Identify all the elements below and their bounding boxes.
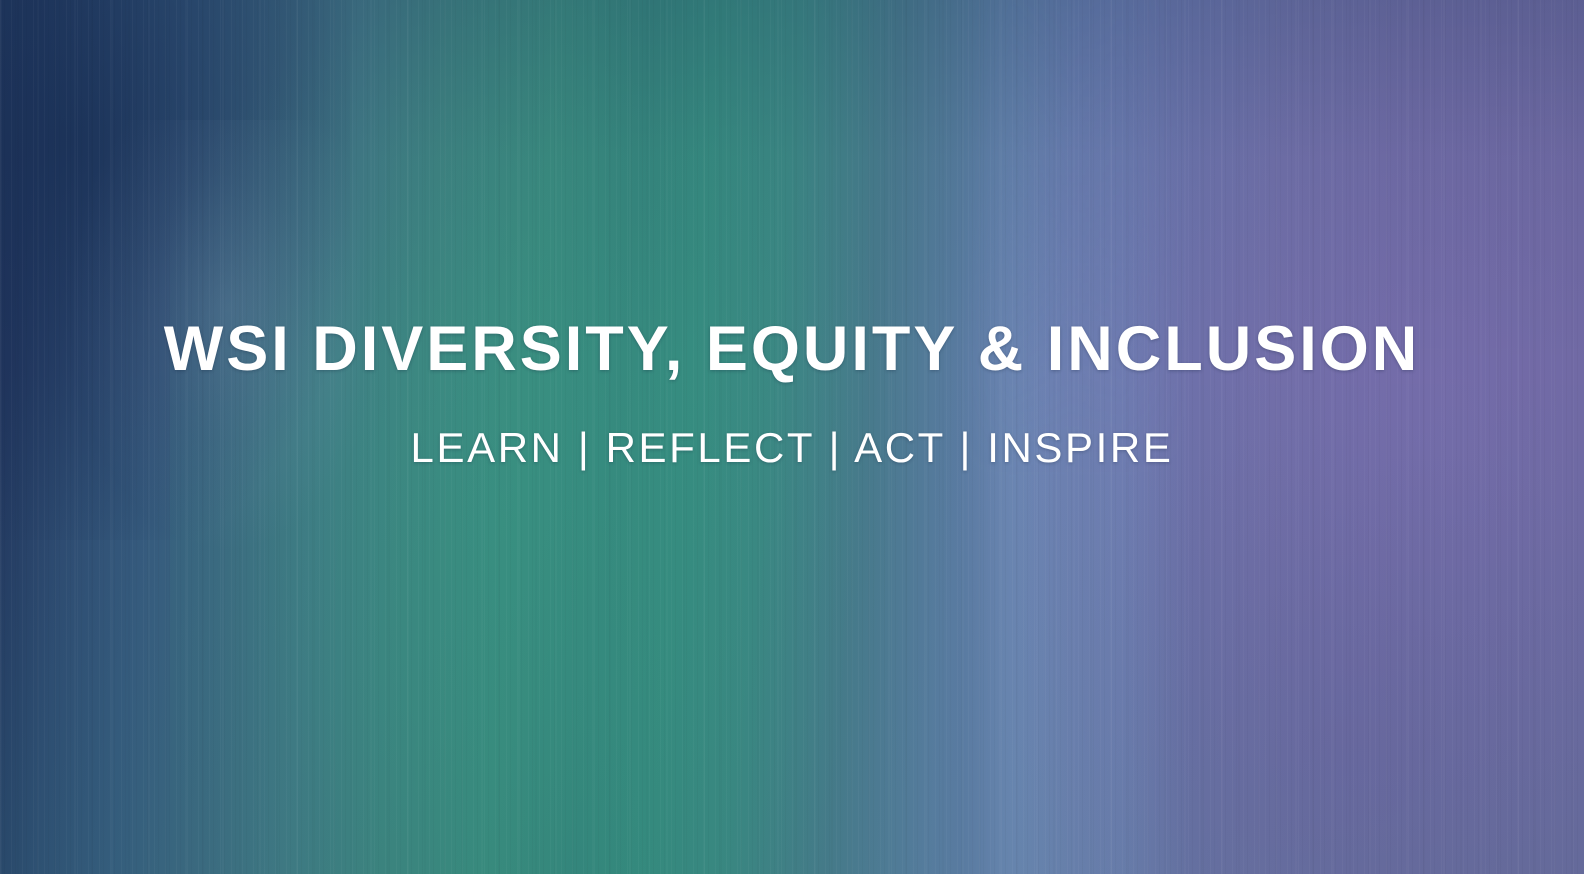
pale-brush-streak-band <box>960 0 1190 874</box>
purple-wash-right <box>924 0 1584 874</box>
banner-subline: LEARN | REFLECT | ACT | INSPIRE <box>0 427 1584 469</box>
banner-headline: WSI DIVERSITY, EQUITY & INCLUSION <box>0 318 1584 381</box>
vertical-tone-wash <box>0 0 1584 874</box>
banner-text-block: WSI DIVERSITY, EQUITY & INCLUSION LEARN … <box>0 318 1584 469</box>
teal-wash-center <box>170 0 890 874</box>
violet-brush-smear-lower-right <box>964 354 1584 874</box>
pale-brush-smear-upper-left <box>30 120 360 590</box>
dei-hero-banner: WSI DIVERSITY, EQUITY & INCLUSION LEARN … <box>0 0 1584 874</box>
brush-stroke-texture <box>0 0 1584 874</box>
navy-wash-left <box>0 0 350 540</box>
